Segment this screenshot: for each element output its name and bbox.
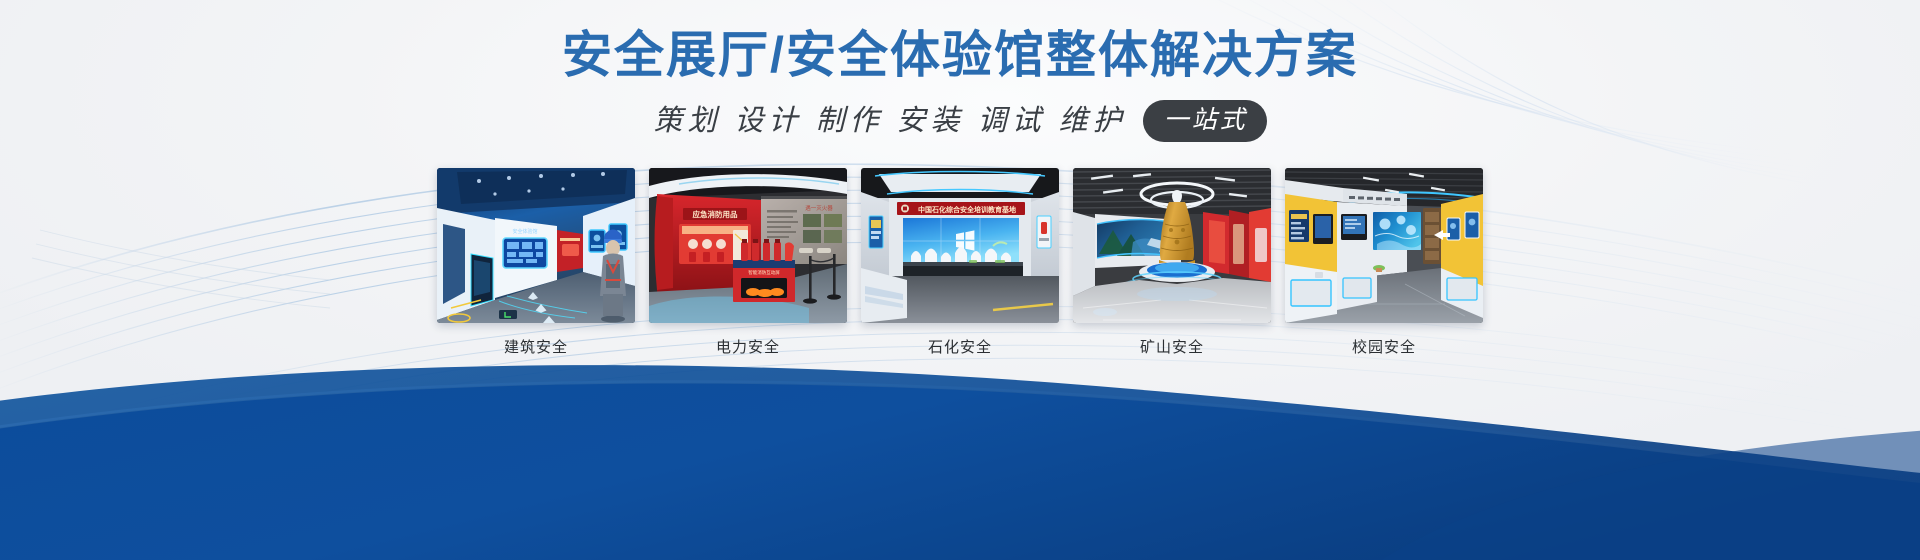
thumbnail-row: 安全体验馆 [437,168,1483,359]
thumbnail-image-petrochemical-safety[interactable]: 中国石化综合安全培训教育基地 [861,168,1059,323]
one-stop-badge: 一站式 [1143,100,1267,142]
thumbnail-image-campus-safety[interactable] [1285,168,1483,323]
svg-text:应急消防用品: 应急消防用品 [693,209,738,219]
svg-text:中国石化综合安全培训教育基地: 中国石化综合安全培训教育基地 [918,205,1016,214]
thumbnail-item[interactable]: 矿山安全 [1073,168,1271,359]
thumbnail-item[interactable]: 应急消防用品 [649,168,847,359]
thumbnail-caption: 石化安全 [928,337,992,359]
thumbnail-caption: 建筑安全 [504,337,568,359]
thumbnail-item[interactable]: 校园安全 [1285,168,1483,359]
thumbnail-caption: 校园安全 [1352,337,1416,359]
thumbnail-item[interactable]: 中国石化综合安全培训教育基地 [861,168,1059,359]
thumbnail-caption: 电力安全 [716,337,780,359]
subtitle-row: 策划 设计 制作 安装 调试 维护 一站式 [0,100,1920,142]
svg-text:遇一灭火器: 遇一灭火器 [805,205,833,212]
svg-text:智能消防互动屏: 智能消防互动屏 [748,269,780,276]
svg-text:安全体验馆: 安全体验馆 [512,228,537,235]
thumbnail-caption: 矿山安全 [1140,337,1204,359]
safety-exhibition-banner: 安全展厅/安全体验馆整体解决方案 策划 设计 制作 安装 调试 维护 一站式 [0,0,1920,560]
thumbnail-image-construction-safety[interactable]: 安全体验馆 [437,168,635,323]
subtitle-text: 策划 设计 制作 安装 调试 维护 [653,101,1126,141]
thumbnail-image-power-safety[interactable]: 应急消防用品 [649,168,847,323]
thumbnail-item[interactable]: 安全体验馆 [437,168,635,359]
page-title: 安全展厅/安全体验馆整体解决方案 [0,24,1920,86]
thumbnail-image-mining-safety[interactable] [1073,168,1271,323]
